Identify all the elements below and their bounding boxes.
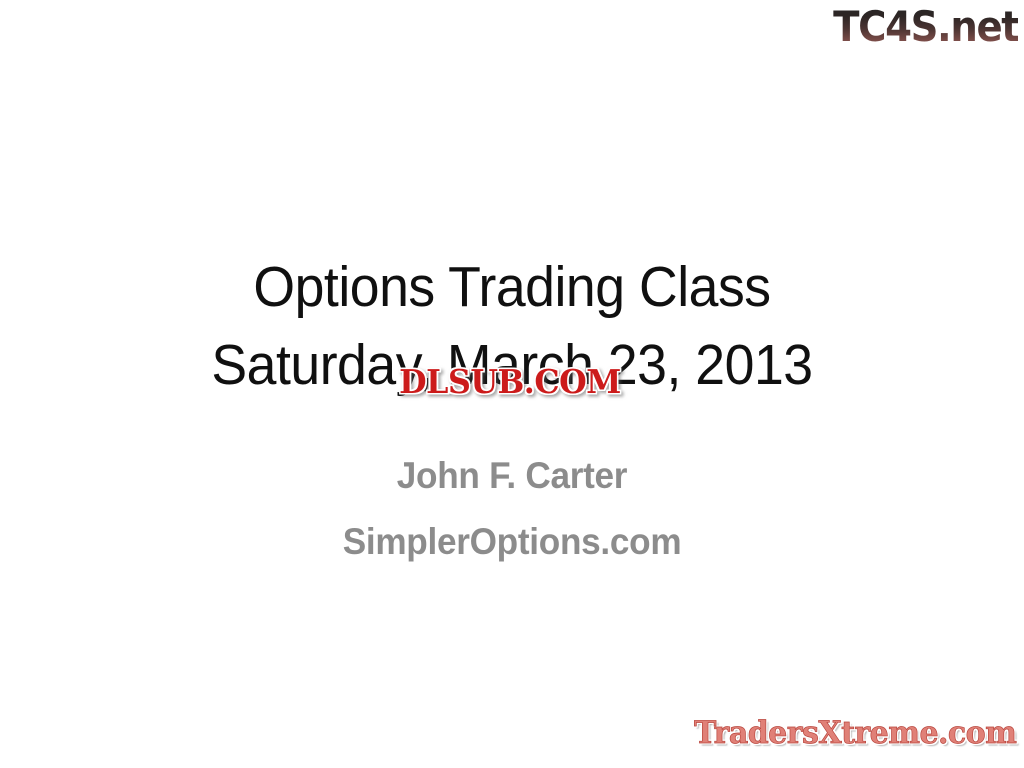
title-line-2: Saturday, March 23, 2013 [31, 326, 994, 404]
tc4s-net-logo: TC4S.net [833, 4, 1018, 50]
presentation-slide: TC4S.net Options Trading Class Saturday,… [0, 0, 1024, 768]
tradersxtreme-com-logo: TradersXtreme.com [694, 715, 1016, 751]
presenter-website: SimplerOptions.com [26, 509, 999, 575]
presenter-name: John F. Carter [26, 443, 999, 509]
title-line-1: Options Trading Class [31, 248, 994, 326]
slide-subtitle: John F. Carter SimplerOptions.com [0, 443, 1024, 575]
slide-title: Options Trading Class Saturday, March 23… [0, 248, 1024, 404]
